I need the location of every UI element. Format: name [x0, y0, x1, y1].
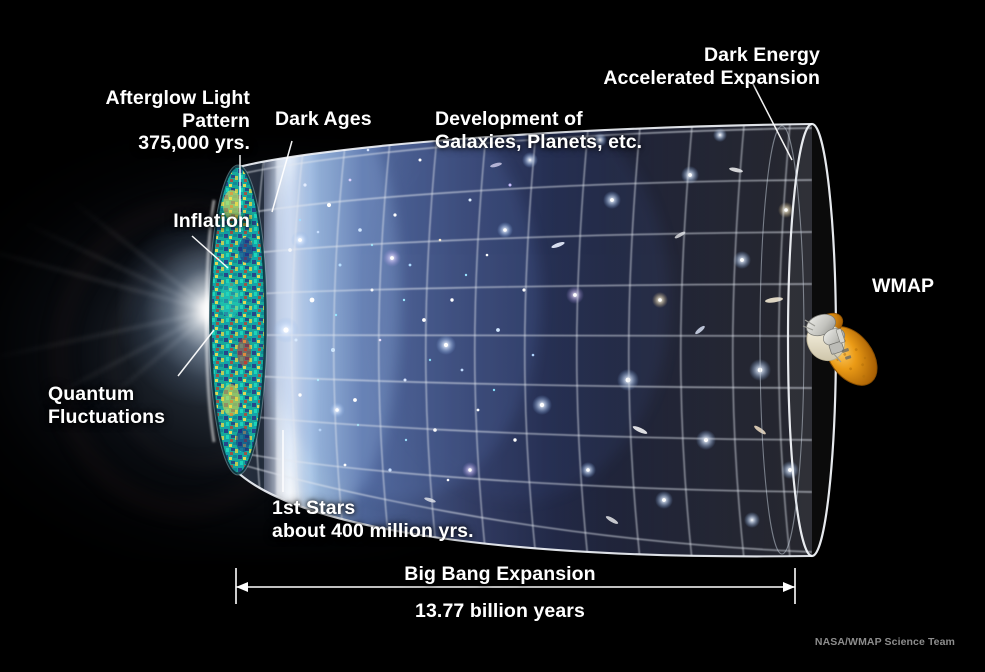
cone-outline	[235, 124, 812, 556]
label-inflation: Inflation	[110, 210, 250, 233]
wmap-spacecraft-icon	[793, 296, 891, 400]
label-quantum-fluctuations: Quantum Fluctuations	[48, 383, 234, 428]
lens-flare-ring	[55, 205, 313, 513]
leader-inflation	[192, 236, 228, 268]
label-wmap: WMAP	[872, 275, 952, 298]
label-big-bang-expansion: Big Bang Expansion	[350, 563, 650, 586]
light-ray	[22, 221, 213, 312]
leader-dark-energy	[752, 82, 792, 160]
label-universe-age: 13.77 billion years	[350, 600, 650, 623]
cone-starfield	[235, 124, 812, 556]
cone-shell-sheen	[235, 124, 812, 556]
star-cluster-dense	[288, 149, 534, 482]
leader-dark-ages	[272, 141, 292, 212]
label-development-of-galaxies: Development of Galaxies, Planets, etc.	[435, 108, 655, 153]
label-afterglow-light-pattern: Afterglow Light Pattern 375,000 yrs.	[58, 87, 250, 155]
light-ray	[0, 245, 213, 312]
lens-flare-ring-inner	[110, 250, 287, 467]
galaxy-streaks	[424, 162, 784, 526]
label-dark-ages: Dark Ages	[275, 108, 395, 131]
universe-timeline-figure: Afterglow Light Pattern 375,000 yrs. Inf…	[0, 0, 985, 672]
cone-grid-horizontal	[236, 128, 812, 552]
star-cores	[283, 173, 791, 502]
light-ray	[0, 310, 213, 360]
credit-line: NASA/WMAP Science Team	[760, 636, 955, 648]
label-dark-energy-accelerated-expansion: Dark Energy Accelerated Expansion	[588, 44, 820, 89]
cone-grid-vertical	[254, 124, 791, 560]
leader-quantum	[178, 330, 214, 376]
label-first-stars: 1st Stars about 400 million yrs.	[272, 497, 502, 542]
big-bang-flash	[118, 215, 308, 405]
star-cluster-glow	[273, 128, 799, 528]
